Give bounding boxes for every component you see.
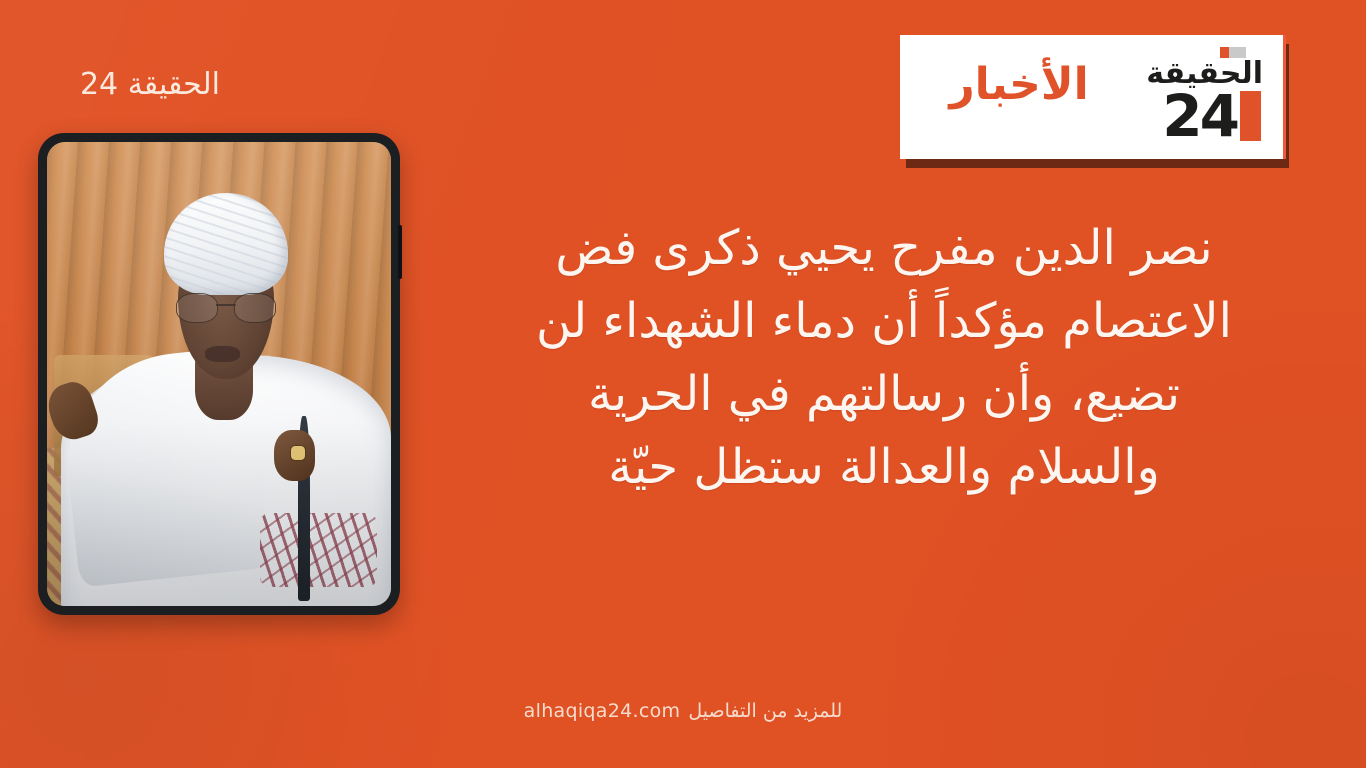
headline-line-3: تضيع، وأن رسالتهم في الحرية bbox=[424, 358, 1344, 431]
subject-photo bbox=[47, 142, 391, 606]
photo-ring bbox=[291, 446, 305, 460]
headline-line-2: الاعتصام مؤكداً أن دماء الشهداء لن bbox=[424, 285, 1344, 358]
footer-site-url[interactable]: alhaqiqa24.com bbox=[524, 700, 681, 722]
headline: نصر الدين مفرح يحيي ذكرى فض الاعتصام مؤك… bbox=[424, 212, 1344, 504]
brand-logo: الحقيقة 24 bbox=[1113, 47, 1263, 147]
footer: للمزيد من التفاصيلalhaqiqa24.com bbox=[0, 700, 1366, 722]
photo-glasses-icon bbox=[176, 293, 276, 321]
glasses-right-lens bbox=[234, 293, 276, 323]
photo-frame bbox=[38, 133, 400, 615]
photo-mouth bbox=[205, 346, 239, 362]
news-graphic-canvas: الحقيقة 24 الأخبار bbox=[0, 0, 1366, 768]
logo-card: الأخبار الحقيقة 24 bbox=[900, 35, 1283, 159]
headline-line-4: والسلام والعدالة ستظل حيّة bbox=[424, 431, 1344, 504]
news-category-label: الأخبار bbox=[924, 61, 1114, 109]
glasses-left-lens bbox=[176, 293, 218, 323]
photo-sleeve-embroidery bbox=[260, 513, 377, 587]
brand-number: 24 bbox=[1162, 87, 1237, 145]
glasses-bridge bbox=[216, 304, 236, 306]
brand-orange-bar-icon bbox=[1240, 91, 1261, 141]
footer-more-label: للمزيد من التفاصيل bbox=[688, 700, 842, 722]
headline-line-1: نصر الدين مفرح يحيي ذكرى فض bbox=[424, 212, 1344, 285]
site-name-watermark: الحقيقة 24 bbox=[20, 68, 280, 101]
